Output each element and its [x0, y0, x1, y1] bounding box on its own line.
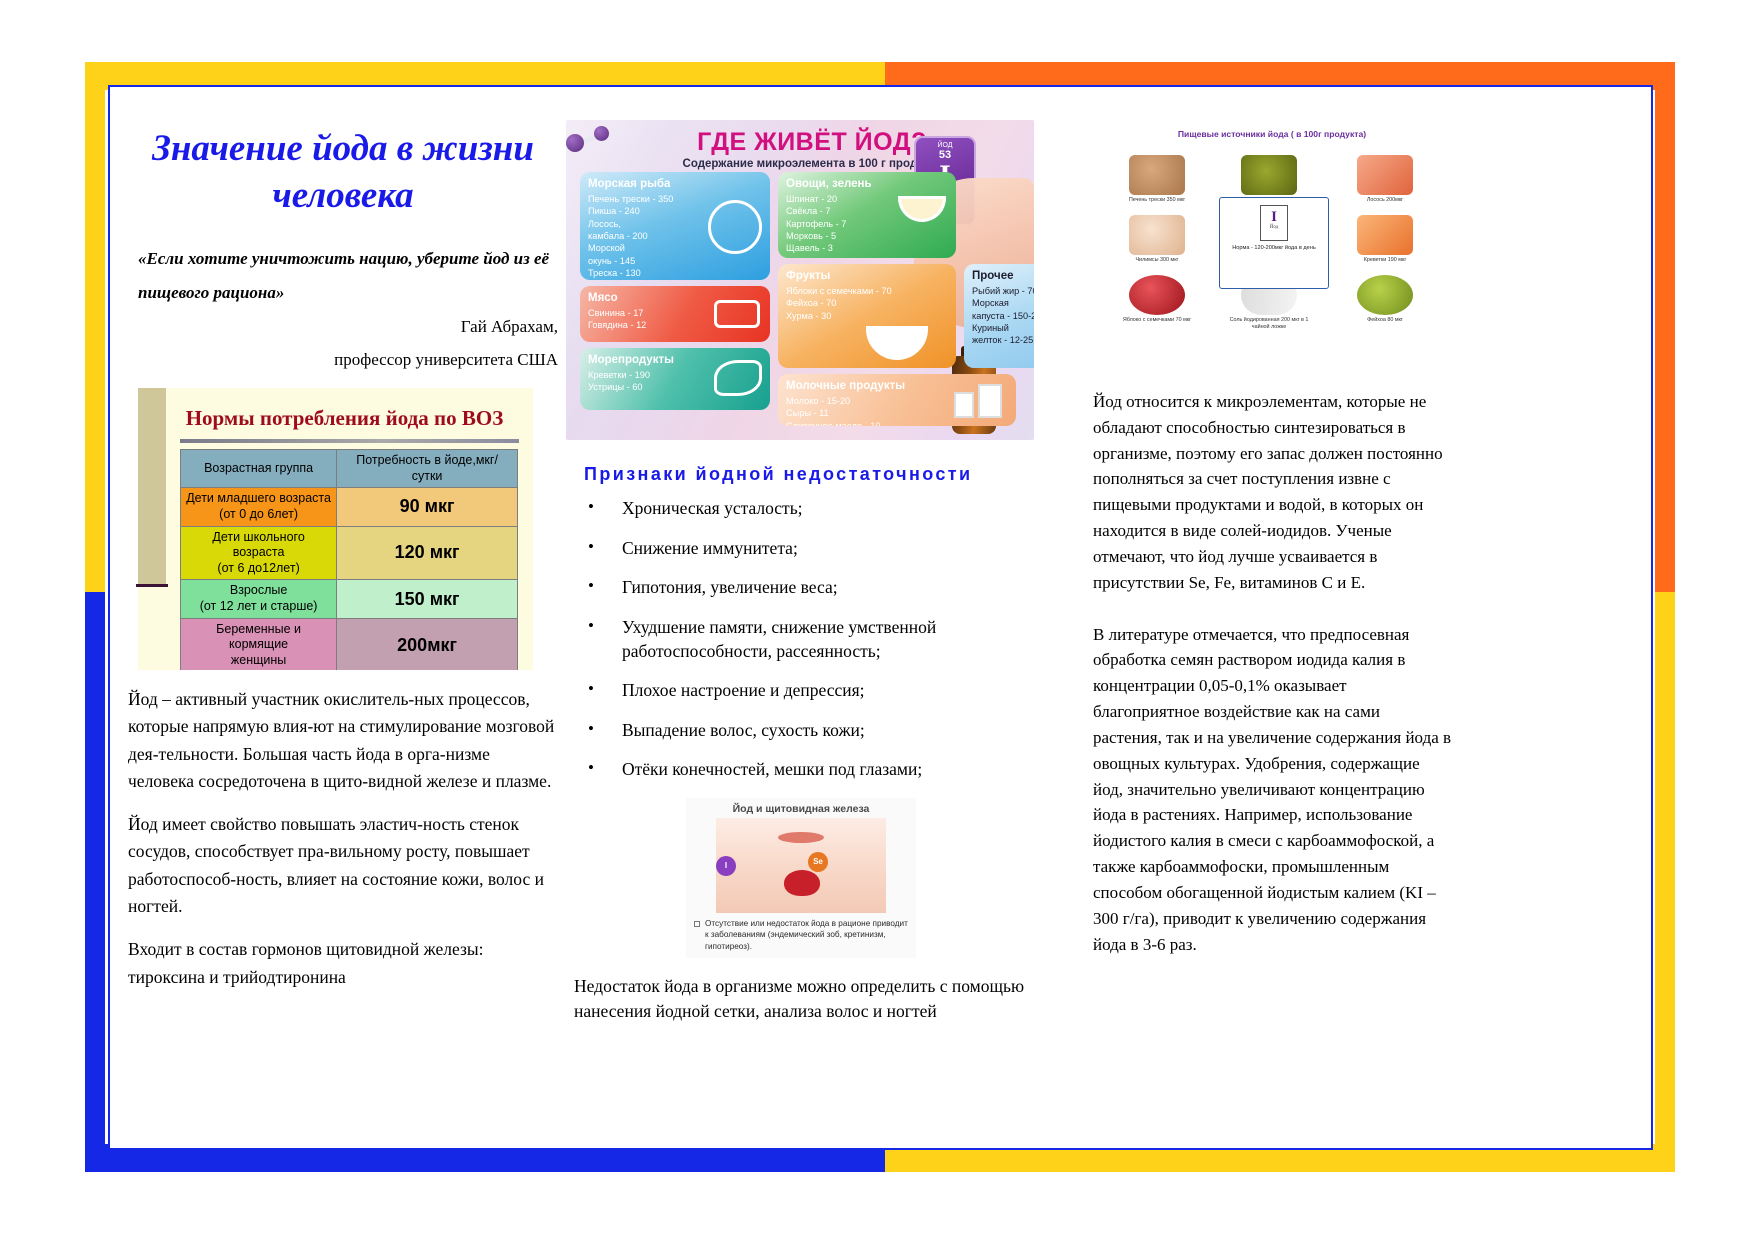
- iodine-grid-note: Недостаток йода в организме можно опреде…: [566, 974, 1036, 1025]
- card-vegetables: Овощи, зелень Шпинат - 20 Свёкла - 7 Кар…: [778, 172, 956, 258]
- thyroid-card-caption-wrap: Отсутствие или недостаток йода в рационе…: [694, 918, 908, 952]
- group-label: Дети младшего возраста: [186, 491, 331, 505]
- right-paragraph-1: Йод относится к микроэлементам, которые …: [1093, 389, 1453, 596]
- list-item: • Ухудшение памяти, снижение умственной …: [576, 616, 1036, 663]
- iodine-badge: I: [716, 856, 736, 876]
- who-norms-table: Возрастная группа Потребность в йоде,мкг…: [180, 449, 518, 670]
- group-range: (от 0 до 6лет): [219, 507, 298, 521]
- group-label: Беременные и кормящие: [216, 622, 301, 652]
- table-row: Дети младшего возраста (от 0 до 6лет) 90…: [181, 488, 518, 526]
- bullet-icon: •: [576, 497, 622, 521]
- group-range: (от 12 лет и старше): [200, 599, 318, 613]
- card-item: Щавель - 3: [786, 242, 956, 254]
- cell-value: 120 мкг: [337, 526, 518, 580]
- page-title: Значение йода в жизни человека: [128, 125, 558, 220]
- frame-band-left-blue: [85, 592, 105, 1172]
- who-norms-table-block: Нормы потребления йода по ВОЗ Возрастная…: [128, 388, 533, 670]
- list-item: • Отёки конечностей, мешки под глазами;: [576, 758, 1036, 782]
- bullet-icon: •: [576, 616, 622, 663]
- card-item: Рыбий жир - 700: [972, 285, 1034, 297]
- card-item: Хурма - 30: [786, 310, 956, 322]
- iodine-symbol-tile: I Йод: [1260, 205, 1288, 241]
- card-item: Морская: [972, 297, 1034, 309]
- source-caption: Фейхоа 80 мкг: [1339, 317, 1431, 324]
- iodine-symbol: I: [1261, 210, 1287, 225]
- table-row: Дети школьного возраста (от 6 до12лет) 1…: [181, 526, 518, 580]
- who-title-underline: [180, 439, 519, 443]
- iodine-name: Йод: [1261, 225, 1287, 230]
- list-item-label: Плохое настроение и депрессия;: [622, 679, 1036, 703]
- element-name: ЙОД: [916, 142, 974, 149]
- who-block-accent-bar: [138, 388, 166, 584]
- list-item: • Гипотония, увеличение веса;: [576, 576, 1036, 600]
- frame-band-right-yellow: [1655, 592, 1675, 1172]
- card-item: Куриный: [972, 322, 1034, 334]
- card-item: Сельдь - 90: [588, 279, 770, 280]
- right-column: Пищевые источники йода ( в 100г продукта…: [1093, 95, 1453, 957]
- source-salmon: Лосось 200мкг: [1339, 155, 1431, 204]
- source-caption: Лосось 200мкг: [1339, 197, 1431, 204]
- card-fruits: Фрукты Яблоки с семечками - 70 Фейхоа - …: [778, 264, 956, 368]
- who-table-title: Нормы потребления йода по ВОЗ: [128, 388, 533, 437]
- cell-group: Дети школьного возраста (от 6 до12лет): [181, 526, 337, 580]
- list-item-label: Гипотония, увеличение веса;: [622, 576, 1036, 600]
- list-item-label: Снижение иммунитета;: [622, 537, 1036, 561]
- milk-carton-icon: [978, 384, 1002, 418]
- card-item: Морковь - 5: [786, 230, 956, 242]
- who-block-margin: [128, 388, 138, 670]
- cod-liver-icon: [1129, 155, 1185, 195]
- cell-value: 200мкг: [337, 618, 518, 670]
- list-item-label: Хроническая усталость;: [622, 497, 1036, 521]
- card-item: капуста - 150-200: [972, 310, 1034, 322]
- group-range: (от 6 до12лет): [217, 561, 299, 575]
- prawns-icon: [1357, 215, 1413, 255]
- source-caption: Печень трески 350 мкг: [1111, 197, 1203, 204]
- cell-group: Дети младшего возраста (от 0 до 6лет): [181, 488, 337, 526]
- card-sea-fish: Морская рыба Печень трески - 350 Пикша -…: [580, 172, 770, 280]
- left-paragraph-2: Йод имеет свойство повышать эластич-ност…: [128, 811, 558, 920]
- bullet-icon: •: [576, 758, 622, 782]
- thyroid-gland-illustration: [784, 870, 820, 896]
- bullet-icon: •: [576, 719, 622, 743]
- fruit-bowl-icon: [866, 326, 928, 360]
- fish-icon: [708, 200, 762, 254]
- group-label: Взрослые: [230, 583, 287, 597]
- table-row: Взрослые (от 12 лет и старше) 150 мкг: [181, 580, 518, 618]
- card-title: Морская рыба: [588, 178, 770, 190]
- ham-icon: [714, 300, 760, 328]
- left-paragraph-3: Входит в состав гормонов щитовидной желе…: [128, 936, 558, 991]
- iodine-norm-text: Норма - 120-200мкг йода в день: [1220, 245, 1328, 251]
- card-dairy: Молочные продукты Молоко - 15-20 Сыры - …: [778, 374, 1016, 426]
- list-item: • Выпадение волос, сухость кожи;: [576, 719, 1036, 743]
- cell-group: Взрослые (от 12 лет и старше): [181, 580, 337, 618]
- poster-content: Значение йода в жизни человека «Если хот…: [118, 95, 1643, 1140]
- source-shrimp: Чилимсы 300 мкг: [1111, 215, 1203, 264]
- group-label: Дети школьного возраста: [212, 530, 304, 560]
- apple-icon: [1129, 275, 1185, 315]
- cell-value: 90 мкг: [337, 488, 518, 526]
- bullet-icon: •: [576, 537, 622, 561]
- iodine-norm-box: I Йод Норма - 120-200мкг йода в день: [1219, 197, 1329, 289]
- source-caption: Креветки 190 мкг: [1339, 257, 1431, 264]
- col-header-value: Потребность в йоде,мкг/сутки: [337, 450, 518, 488]
- card-item: Сливочное масло - 10: [786, 420, 1016, 426]
- list-item-label: Ухудшение памяти, снижение умственной ра…: [622, 616, 1036, 663]
- list-item: • Снижение иммунитета;: [576, 537, 1036, 561]
- card-item: окунь - 145: [588, 255, 770, 267]
- source-prawns: Креветки 190 мкг: [1339, 215, 1431, 264]
- iodine-sources-infographic: ГДЕ ЖИВЁТ ЙОД? Содержание микроэлемента …: [566, 120, 1034, 440]
- list-item: • Плохое настроение и депрессия;: [576, 679, 1036, 703]
- thyroid-photo: [716, 818, 886, 913]
- selenium-badge: Se: [808, 852, 828, 872]
- right-paragraph-2: В литературе отмечается, что предпосевна…: [1093, 622, 1453, 958]
- butter-pack-icon: [954, 392, 974, 418]
- card-item: желток - 12-25: [972, 334, 1034, 346]
- list-item-label: Отёки конечностей, мешки под глазами;: [622, 758, 1036, 782]
- sea-kale-icon: [1241, 155, 1297, 195]
- card-item: Треска - 130: [588, 267, 770, 279]
- epigraph-quote: «Если хотите уничтожить нацию, уберите й…: [128, 242, 558, 310]
- card-title: Фрукты: [786, 270, 956, 282]
- list-item-label: Выпадение волос, сухость кожи;: [622, 719, 1036, 743]
- thyroid-card-title: Йод и щитовидная железа: [686, 798, 916, 815]
- source-caption: Чилимсы 300 мкг: [1111, 257, 1203, 264]
- lips-illustration: [778, 832, 824, 843]
- signs-list: • Хроническая усталость; • Снижение имму…: [566, 497, 1036, 782]
- cell-group: Беременные и кормящие женщины: [181, 618, 337, 670]
- bullet-icon: •: [576, 679, 622, 703]
- left-paragraph-1: Йод – активный участник окислитель-ных п…: [128, 686, 558, 795]
- source-caption: Соль йодированная 200 мкг в 1 чайной лож…: [1223, 317, 1315, 331]
- food-sources-card: Пищевые источники йода ( в 100г продукта…: [1093, 123, 1451, 363]
- table-row: Беременные и кормящие женщины 200мкг: [181, 618, 518, 670]
- source-feijoa: Фейхоа 80 мкг: [1339, 275, 1431, 324]
- card-other: Прочее Рыбий жир - 700 Морская капуста -…: [964, 264, 1034, 368]
- card-item: Яблоки с семечками - 70: [786, 285, 956, 297]
- shrimp-icon: [1129, 215, 1185, 255]
- thyroid-illustration-card: Йод и щитовидная железа I Se Отсутствие …: [686, 798, 916, 958]
- cell-value: 150 мкг: [337, 580, 518, 618]
- feijoa-icon: [1357, 275, 1413, 315]
- salmon-icon: [1357, 155, 1413, 195]
- epigraph-author: Гай Абрахам,: [128, 310, 558, 343]
- bullet-square-icon: [694, 921, 700, 927]
- epigraph-author-role: профессор университета США: [128, 343, 558, 376]
- signs-section-title: Признаки йодной недостаточности: [566, 464, 1036, 485]
- thyroid-card-caption: Отсутствие или недостаток йода в рационе…: [705, 918, 908, 952]
- card-title: Прочее: [972, 270, 1034, 282]
- left-column: Значение йода в жизни человека «Если хот…: [128, 95, 558, 991]
- card-seafood: Морепродукты Креветки - 190 Устрицы - 60: [580, 348, 770, 410]
- col-header-group: Возрастная группа: [181, 450, 337, 488]
- source-cod-liver: Печень трески 350 мкг: [1111, 155, 1203, 204]
- frame-band-right-orange: [1655, 62, 1675, 592]
- card-meat: Мясо Свинина - 17 Говядина - 12: [580, 286, 770, 342]
- bullet-icon: •: [576, 576, 622, 600]
- card-item: Фейхоа - 70: [786, 297, 956, 309]
- source-caption: Яблоко с семечками 70 мкг: [1111, 317, 1203, 324]
- list-item: • Хроническая усталость;: [576, 497, 1036, 521]
- source-apple: Яблоко с семечками 70 мкг: [1111, 275, 1203, 324]
- who-block-accent-line: [136, 584, 168, 587]
- shrimp-icon: [714, 360, 762, 396]
- food-sources-title: Пищевые источники йода ( в 100г продукта…: [1093, 123, 1451, 139]
- frame-band-left-yellow: [85, 62, 105, 592]
- group-range: женщины: [231, 653, 286, 667]
- card-title: Овощи, зелень: [786, 178, 956, 190]
- table-header-row: Возрастная группа Потребность в йоде,мкг…: [181, 450, 518, 488]
- middle-column: ГДЕ ЖИВЁТ ЙОД? Содержание микроэлемента …: [566, 95, 1036, 1025]
